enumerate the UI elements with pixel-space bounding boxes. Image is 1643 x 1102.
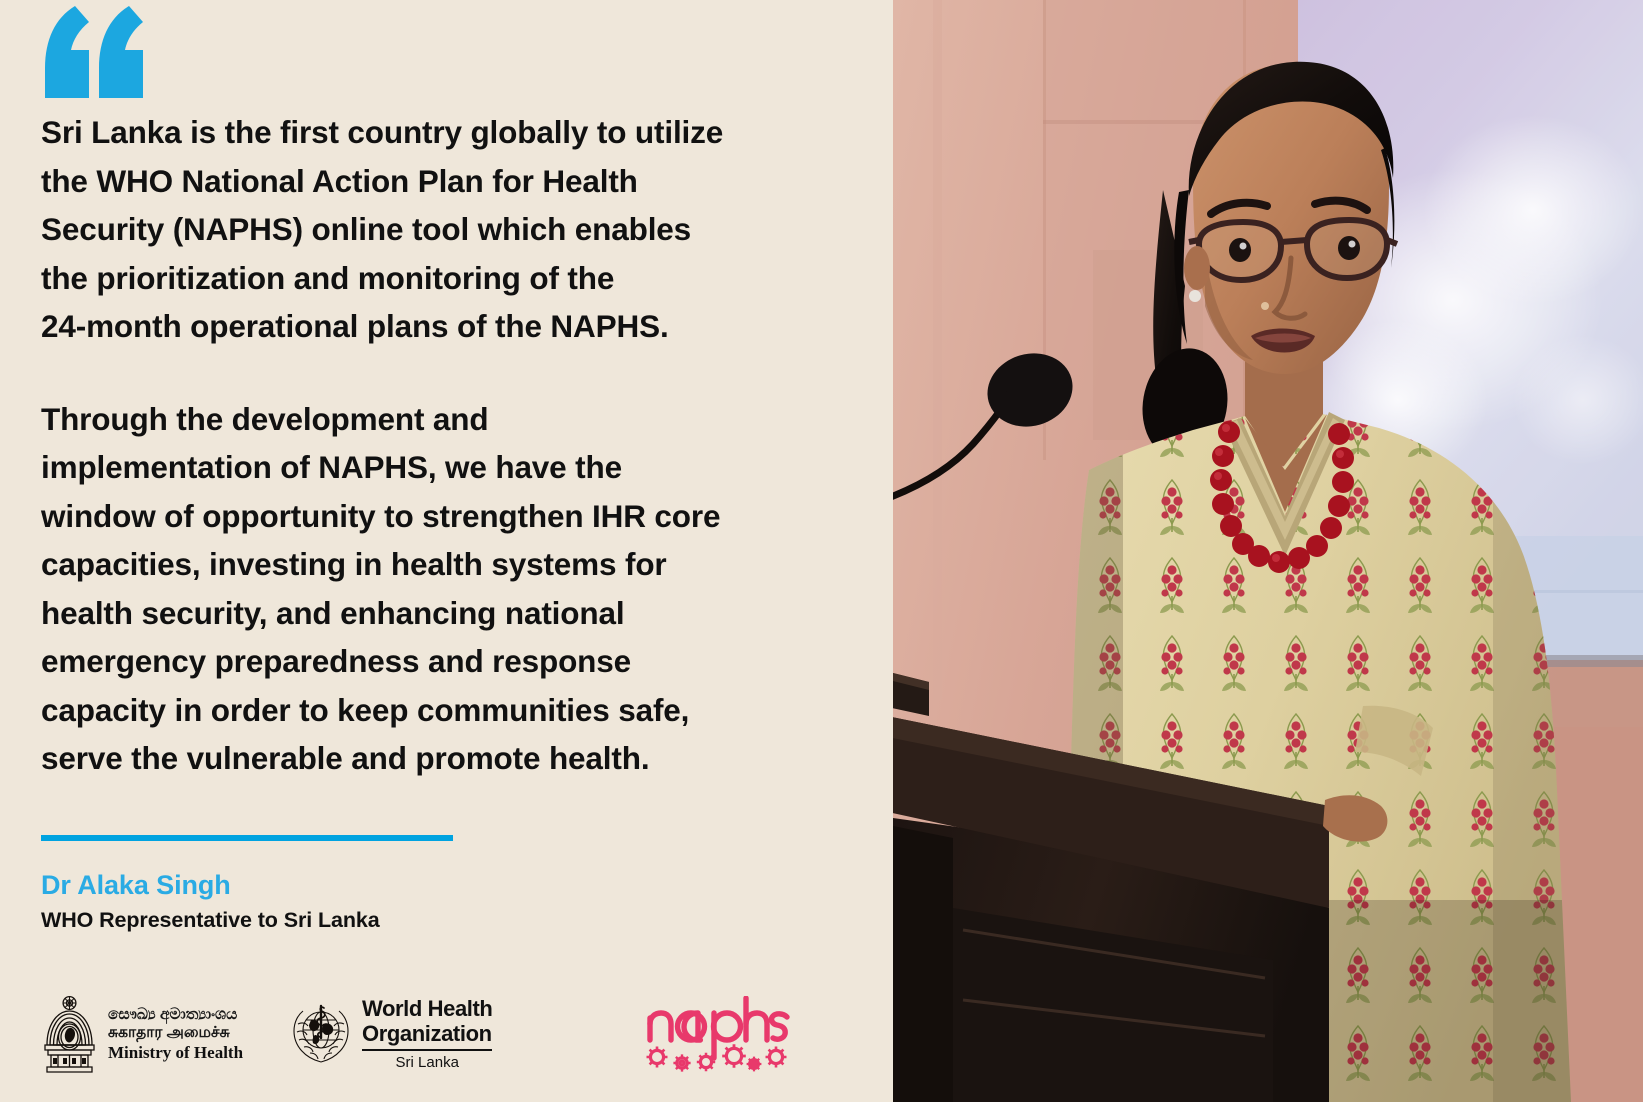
who-divider	[362, 1049, 492, 1051]
who-emblem-icon	[289, 1002, 353, 1066]
quote-paragraph-2: Through the development and implementati…	[41, 395, 831, 783]
logo-row: සෞඛ්‍ය අමාත්‍යාංශය சுகாதார அமைச்சு Minis…	[41, 988, 790, 1080]
ministry-of-health-tamil: சுகாதார அமைச்சு	[108, 1024, 243, 1042]
open-quote-icon	[41, 6, 151, 101]
speaker-name: Dr Alaka Singh	[41, 869, 741, 902]
accent-divider	[41, 835, 453, 841]
speaker-photo	[893, 0, 1643, 1102]
sri-lanka-government-crest-icon	[41, 993, 98, 1075]
who-logo: World Health Organization Sri Lanka	[289, 997, 492, 1071]
ministry-of-health-sinhala: සෞඛ්‍ය අමාත්‍යාංශය	[108, 1006, 243, 1024]
quote-text-panel: Sri Lanka is the first country globally …	[0, 0, 893, 1102]
ministry-of-health-english: Ministry of Health	[108, 1043, 243, 1063]
who-country: Sri Lanka	[362, 1054, 492, 1071]
who-wordmark: World Health Organization Sri Lanka	[362, 997, 492, 1071]
quote-card: Sri Lanka is the first country globally …	[0, 0, 1643, 1102]
who-line-2: Organization	[362, 1022, 492, 1047]
who-line-1: World Health	[362, 997, 492, 1022]
quote-paragraph-1: Sri Lanka is the first country globally …	[41, 108, 831, 351]
naphs-wordmark	[650, 998, 787, 1058]
ministry-of-health-text: සෞඛ්‍ය අමාත්‍යාංශය சுகாதார அமைச்சு Minis…	[108, 1006, 243, 1063]
attribution: Dr Alaka Singh WHO Representative to Sri…	[41, 869, 741, 934]
quote-body: Sri Lanka is the first country globally …	[41, 108, 831, 783]
naphs-logo	[642, 996, 790, 1072]
ministry-of-health-logo: සෞඛ්‍ය අමාත්‍යාංශය சுகாதார அமைச்சு Minis…	[41, 993, 241, 1075]
speaker-role: WHO Representative to Sri Lanka	[41, 907, 741, 934]
